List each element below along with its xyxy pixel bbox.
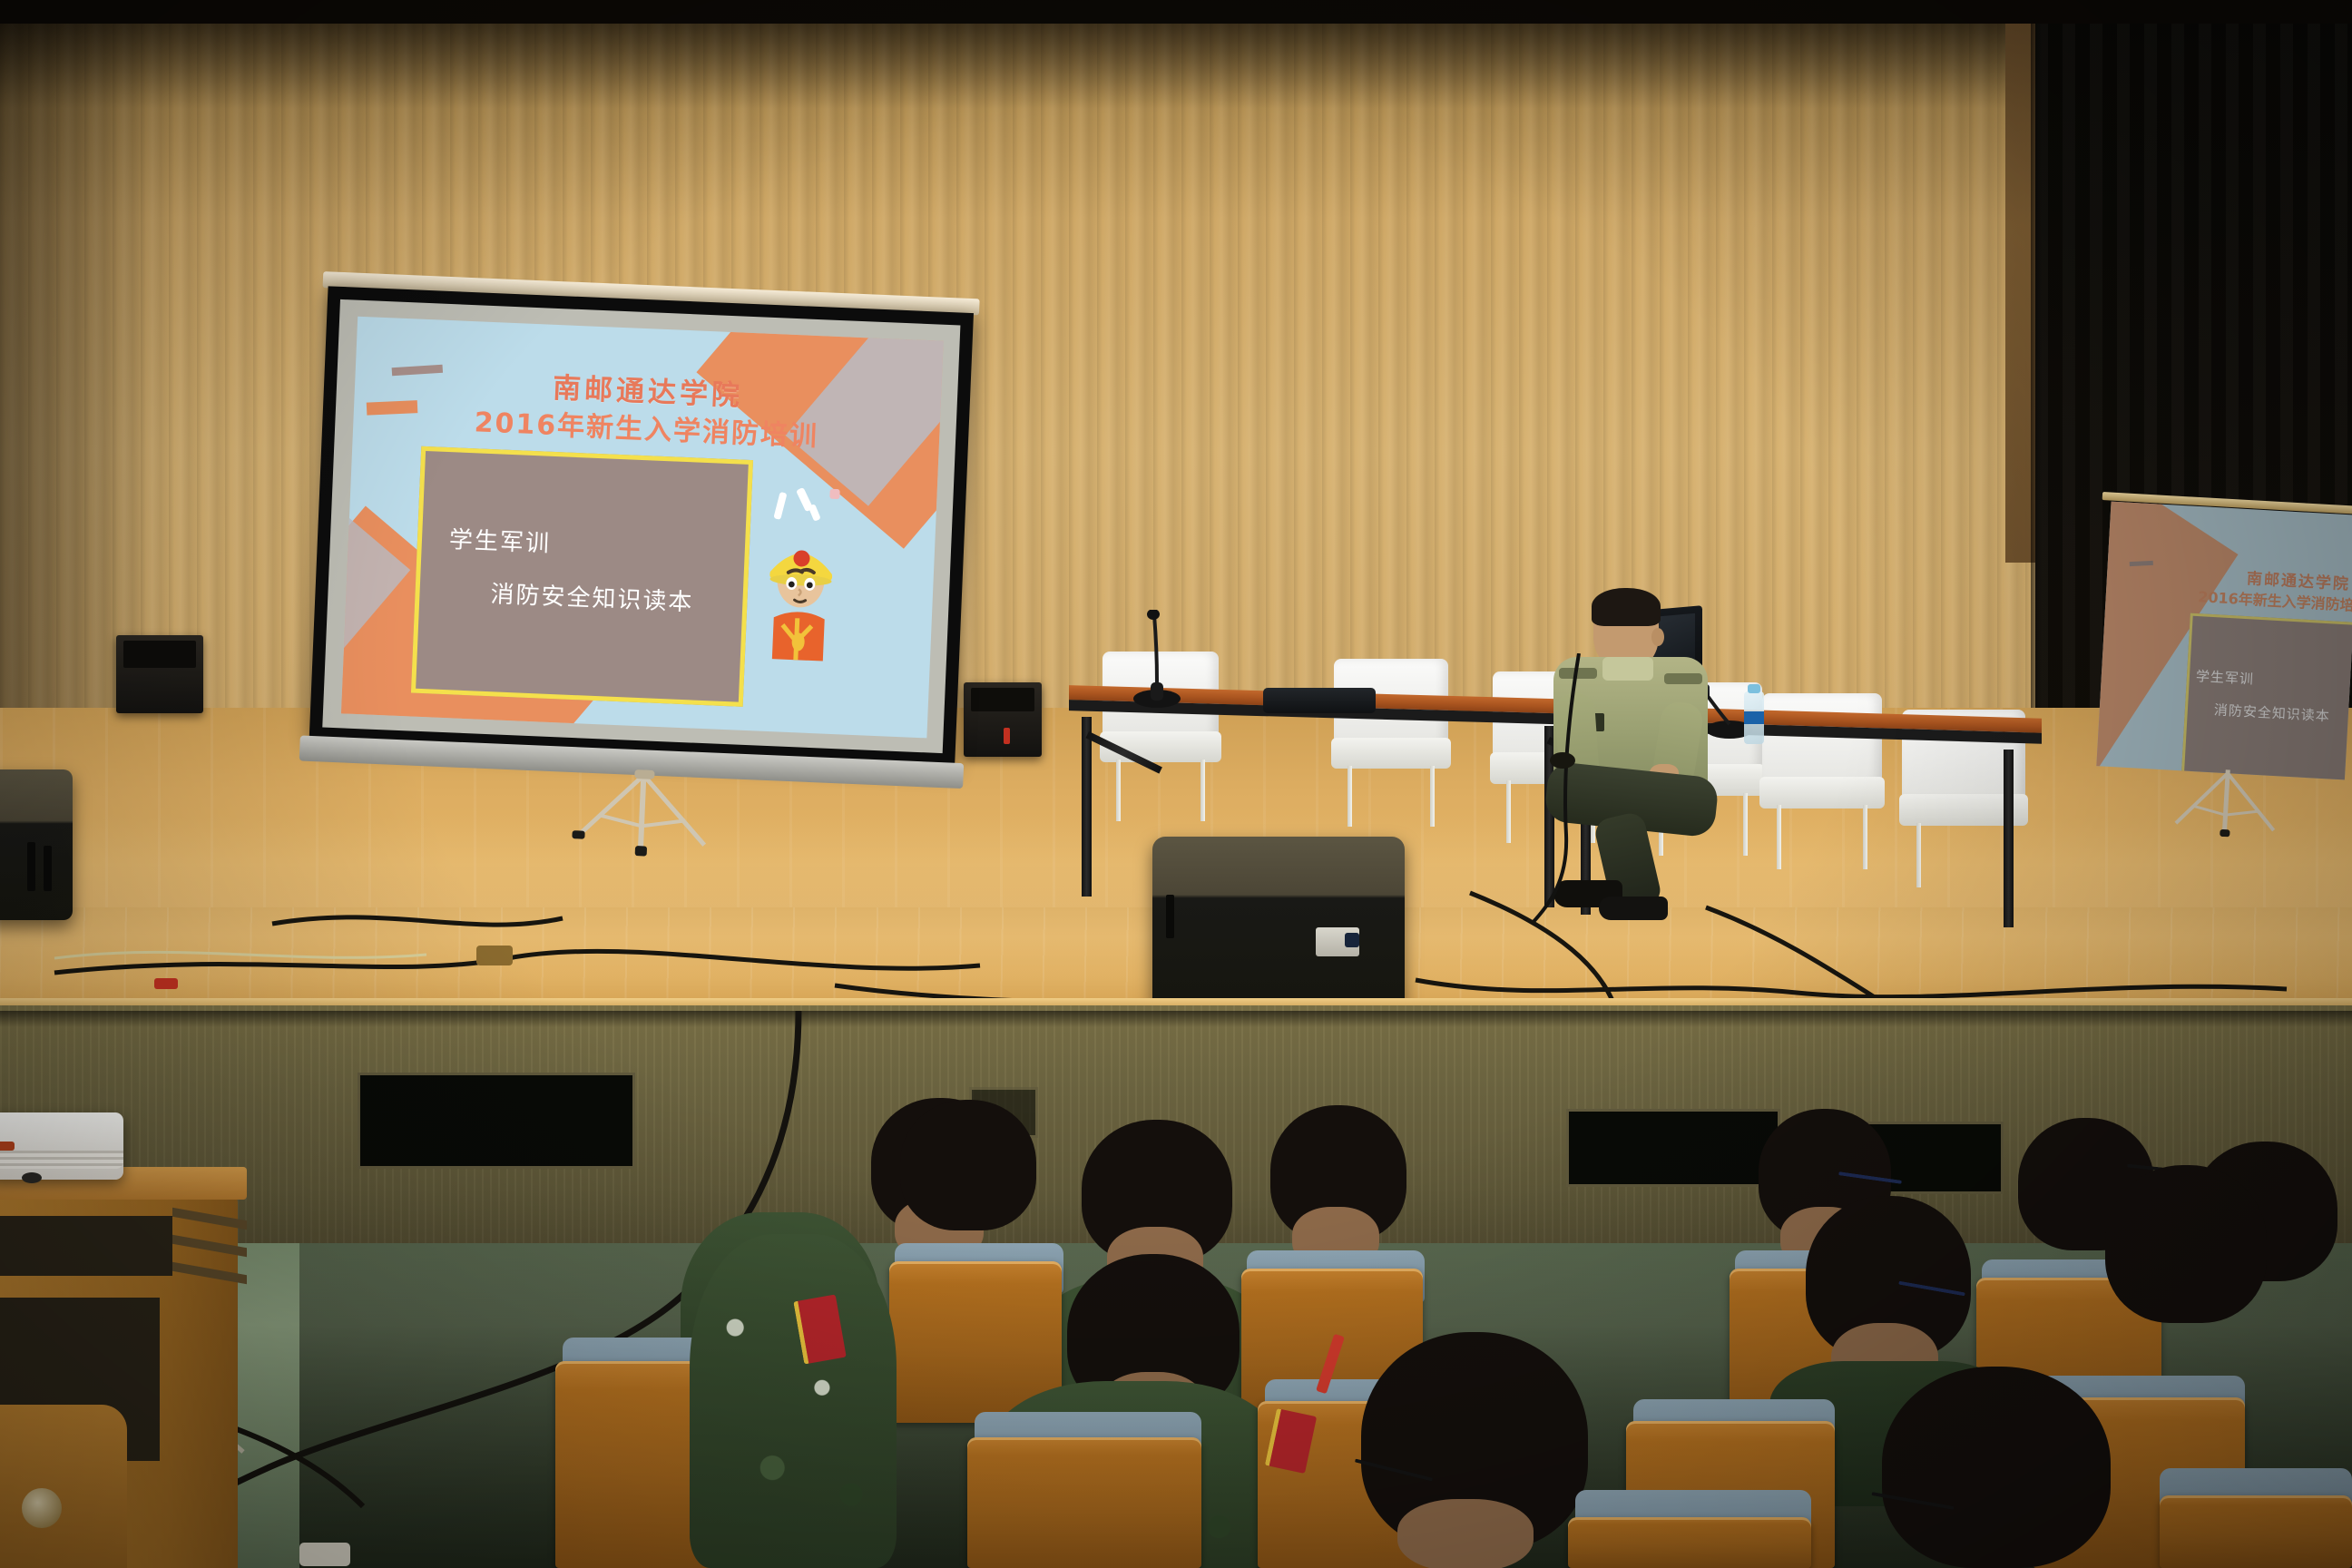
secondary-slide-content-box — [2181, 613, 2352, 780]
secondary-projection-screen[interactable]: 南邮通达学院 2016年新生入学消防培 学生军训 消防安全知识读本 — [2096, 502, 2352, 788]
slide-body-line-2: 消防安全知识读本 — [490, 575, 694, 617]
slide-chalk-pink — [829, 489, 839, 499]
chair-leg-left — [1116, 759, 1121, 821]
screen-tripod-stand — [568, 767, 717, 860]
presenter-ear — [1651, 628, 1664, 646]
chair-leg-right — [1200, 759, 1205, 821]
audience-head-f2 — [1882, 1367, 2111, 1568]
slide-chalk-1 — [773, 492, 787, 520]
slide-body-line-1: 学生军训 — [448, 521, 551, 559]
aisle-seat-bolt — [22, 1488, 62, 1528]
slide-canvas: 南邮通达学院 2016年新生入学消防培训 学生军训 消防安全知识读本 — [341, 317, 944, 739]
secondary-slide-body-line-1: 学生军训 — [2195, 666, 2254, 689]
amplifier-left-grille — [123, 641, 196, 668]
presenter-hair — [1592, 588, 1661, 626]
amplifier-right-grille — [971, 688, 1034, 711]
audience-neck-f1 — [1397, 1499, 1534, 1568]
black-bag — [1263, 688, 1376, 713]
audience-seat-f4[interactable] — [2160, 1495, 2352, 1568]
slide-chalk-3 — [808, 504, 820, 522]
chair-leg-left — [1777, 805, 1781, 868]
audience-head-f0 — [900, 1100, 1036, 1230]
projection-screen[interactable]: 南邮通达学院 2016年新生入学消防培训 学生军训 消防安全知识读本 — [308, 286, 974, 802]
chair-leg-right — [1863, 805, 1867, 868]
projector-lens — [22, 1172, 42, 1183]
projector-vents — [0, 1151, 123, 1169]
presenter-epaulette-right — [1664, 673, 1702, 684]
screen-frame: 南邮通达学院 2016年新生入学消防培训 学生军训 消防安全知识读本 — [309, 286, 974, 766]
slide-content-box: 学生军训 消防安全知识读本 — [411, 446, 753, 707]
chair-seat — [1331, 738, 1450, 769]
projector-lectern-shelf — [0, 1216, 172, 1276]
screenshot-root: 南邮通达学院 2016年新生入学消防培训 学生军训 消防安全知识读本 — [0, 0, 2352, 1568]
audience-head-m3 — [2105, 1165, 2267, 1323]
stage-vent-panel-2 — [1566, 1109, 1780, 1187]
water-bottle-cap — [1748, 684, 1760, 693]
chair-leg-right — [1430, 766, 1435, 827]
audience-seat-f3[interactable] — [1568, 1517, 1811, 1568]
amplifier-right-led — [1004, 728, 1010, 744]
projector-power-cable — [0, 1142, 15, 1151]
ceiling-band — [0, 0, 2352, 24]
chair-seat — [1759, 777, 1884, 808]
aisle-seat-armrest — [0, 1405, 127, 1568]
chair-leg-left — [1347, 766, 1352, 827]
secondary-screen-tripod — [2170, 767, 2282, 840]
secondary-slide-canvas: 南邮通达学院 2016年新生入学消防培 学生军训 消防安全知识读本 — [2096, 502, 2352, 780]
chair-2 — [1334, 659, 1448, 811]
firefighter-mascot-icon — [753, 522, 847, 671]
gooseneck-microphone-1 — [1125, 610, 1189, 710]
audience-seat-f1[interactable] — [967, 1437, 1201, 1568]
water-bottle-label — [1744, 711, 1764, 724]
projector[interactable] — [0, 1112, 123, 1180]
folding-table-1-leg-left — [1082, 717, 1092, 897]
audience-camo-f0 — [690, 1234, 897, 1568]
